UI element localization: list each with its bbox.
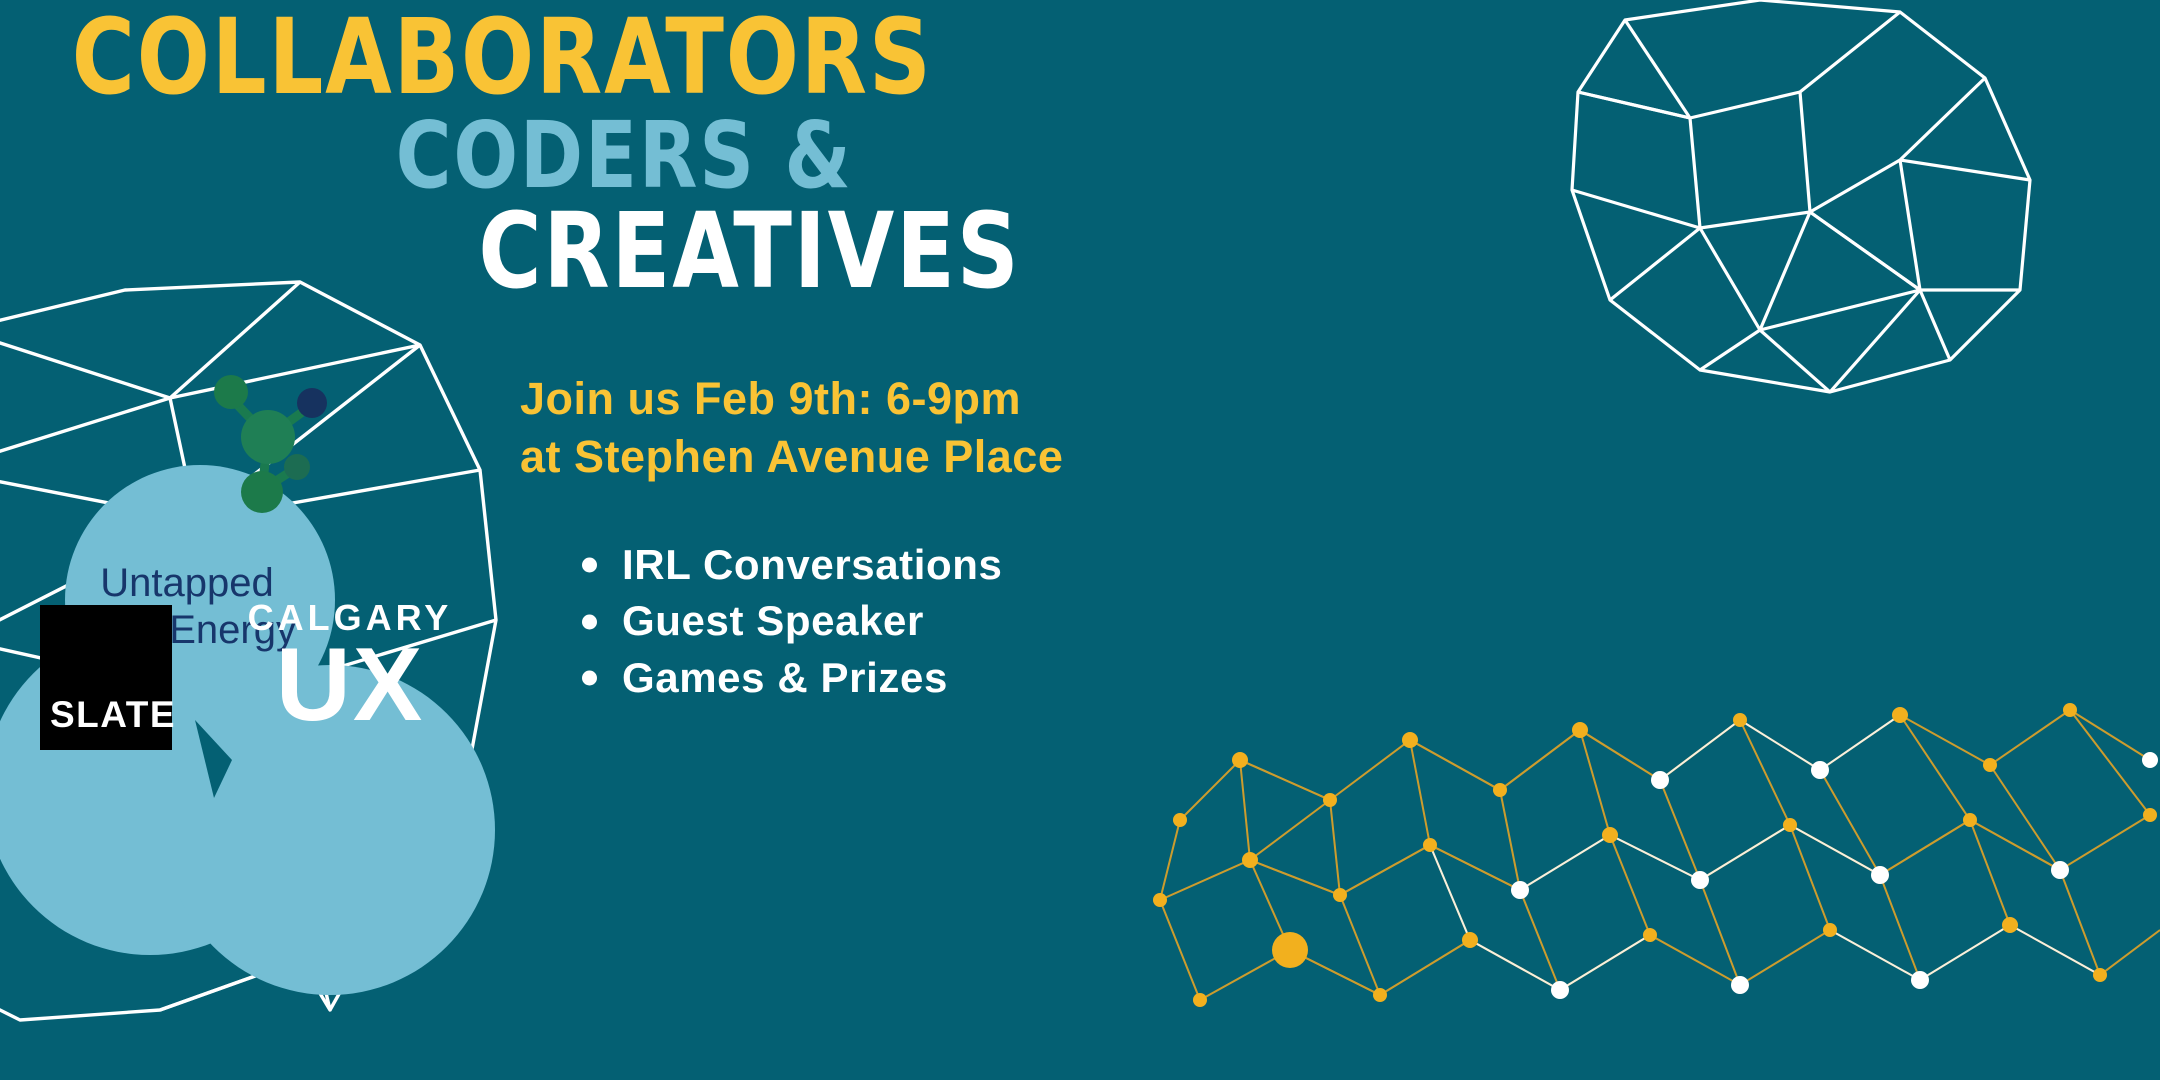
event-location-line: at Stephen Avenue Place (520, 428, 1280, 486)
calgary-ux-line2: UX (240, 638, 460, 734)
headline-line-creatives: CREATIVES (0, 204, 1214, 300)
event-details-block: Join us Feb 9th: 6-9pm at Stephen Avenue… (520, 370, 1280, 722)
headline-line-coders: CODERS & (0, 114, 1214, 199)
headline-line-collaborators: COLLABORATORS (0, 10, 1214, 106)
event-banner: COLLABORATORS CODERS & CREATIVES Join us… (0, 0, 2160, 1080)
headline-block: COLLABORATORS CODERS & CREATIVES (0, 10, 1320, 300)
slate-logo-label: SLATE (50, 694, 176, 736)
list-item: IRL Conversations (582, 537, 1280, 593)
slate-logo: SLATE (40, 605, 172, 750)
calgary-ux-logo: CALGARY UX (240, 600, 460, 734)
event-highlights-list: IRL Conversations Guest Speaker Games & … (520, 537, 1280, 706)
event-date-location: Join us Feb 9th: 6-9pm at Stephen Avenue… (520, 370, 1280, 485)
event-date-line: Join us Feb 9th: 6-9pm (520, 370, 1280, 428)
list-item: Guest Speaker (582, 593, 1280, 649)
list-item: Games & Prizes (582, 650, 1280, 706)
